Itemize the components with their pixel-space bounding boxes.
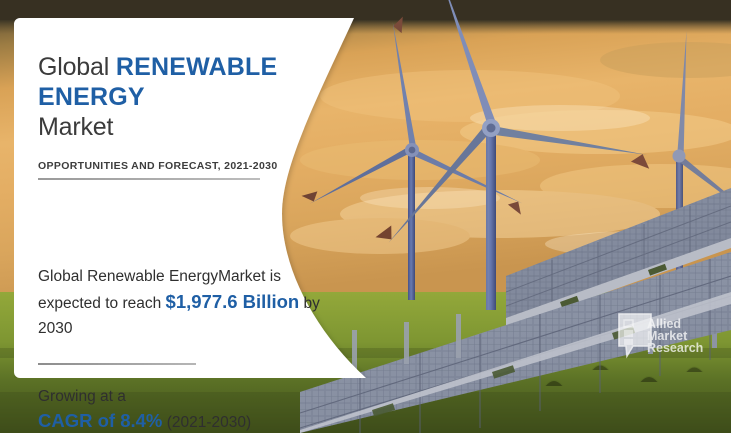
allied-market-research-watermark: Allied Market Research [617,312,709,364]
title-tail: Market [38,113,113,141]
title-lead: Global [38,53,116,81]
card-content: Global RENEWABLE ENERGYMarket OPPORTUNIT… [38,52,338,433]
infographic-root: Global RENEWABLE ENERGYMarket OPPORTUNIT… [0,0,731,433]
cagr-value: CAGR of 8.4% [38,410,162,431]
cagr-period: (2021-2030) [167,414,251,431]
watermark-line-3: Research [647,341,703,355]
stat-divider-wrap [38,363,338,365]
stat-divider [38,363,196,365]
cagr-lead: Growing at a [38,388,126,405]
market-size-statement: Global Renewable EnergyMarket is expecte… [38,264,338,341]
cagr-statement: Growing at aCAGR of 8.4% (2021-2030) [38,385,338,433]
market-size-value: $1,977.6 Billion [166,291,300,312]
page-title: Global RENEWABLE ENERGYMarket [38,52,338,142]
subtitle-underline [38,178,260,180]
subtitle: OPPORTUNITIES AND FORECAST, 2021-2030 [38,160,338,172]
